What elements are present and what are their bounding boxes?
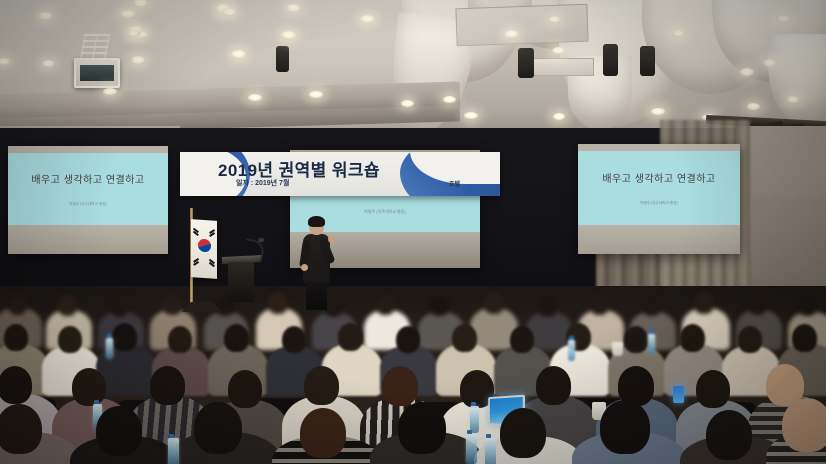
attendee-head [600,400,650,454]
attendee-head [396,326,420,353]
downlight-icon [553,113,565,120]
presenter [298,218,338,310]
ceiling-duct [455,4,588,47]
hanging-speaker-icon [640,46,655,76]
water-bottle [648,334,655,355]
downlight-icon [38,12,53,20]
attendee-head [484,292,504,314]
event-banner: 2019년 권역별 워크숍 일자 : 2019년 7월 호텔 [180,152,500,196]
downlight-icon [103,88,117,95]
downlight-icon [127,30,140,37]
south-korean-flag-icon [178,216,212,302]
slide-subtitle: 박형주 (아주대학교 총장) [69,202,106,207]
attendee-head [500,408,546,458]
attendee-head [194,402,242,454]
downlight-icon [651,108,665,115]
conference-hall-photo: 배우고 생각하고 연결하고 박형주 (아주대학교 총장) 배우고 생각하고 연결… [0,0,826,464]
slide-subtitle: 박형주 (아주대학교 총장) [364,209,406,215]
downlight-icon [309,91,323,98]
downlight-icon [787,96,799,103]
downlight-icon [222,8,237,16]
attendee-head [282,326,306,353]
attendee-head [430,296,449,316]
water-bottle [568,340,575,361]
screen-frame [578,144,740,151]
attendee-head [738,326,762,353]
attendee-head [538,296,557,317]
slide-subtitle: 박형주 (아주대학교 총장) [640,201,677,206]
attendee-head [228,370,262,408]
attendee-head [110,296,129,317]
downlight-icon [131,56,145,64]
right-projection-screen: 배우고 생각하고 연결하고 박형주 (아주대학교 총장) [578,144,740,254]
flag-cloth [191,219,217,279]
water-bottle [470,406,479,433]
attendee-head [798,296,817,316]
attendee-head [590,294,609,315]
attendee-head [398,402,446,454]
attendee-head [680,324,705,352]
hanging-speaker-icon [518,48,534,78]
attendee-head [58,295,77,316]
projector-body [80,65,114,81]
microphone-head [258,238,264,242]
bottle-cap [94,400,99,404]
attendee-head [452,324,477,352]
downlight-icon [763,59,777,67]
downlight-icon [504,30,519,38]
screen-frame [8,146,168,153]
downlight-icon [443,96,456,103]
attendee-head [510,326,534,353]
bottle-cap [471,402,476,406]
hanging-speaker-icon [603,44,618,76]
flag-stand [182,292,222,312]
left-projection-screen: 배우고 생각하고 연결하고 박형주 (아주대학교 총장) [8,146,168,254]
slide-title: 배우고 생각하고 연결하고 [602,170,715,185]
attendee-head [536,366,571,405]
water-bottle [466,434,477,464]
attendee-head [300,408,346,458]
banner-venue: 호텔 [449,179,460,188]
attendee-head [0,404,42,454]
smartphone [673,386,684,403]
hanging-speaker-icon [276,46,289,72]
banner-date: 일자 : 2019년 7월 [236,178,289,188]
screen-lower-band [578,225,740,254]
coffee-cup [612,342,623,356]
attendee-head [168,326,192,353]
attendee-head [224,324,249,352]
attendee-head [268,292,288,314]
water-bottle [106,338,113,359]
taeguk-symbol [198,239,211,253]
attendee-head [8,294,27,315]
attendee-head [4,324,28,351]
lectern-body [228,262,254,302]
projector-icon [74,58,120,88]
bottle-cap [486,434,491,438]
downlight-icon [120,10,136,18]
attendee-head [112,323,137,351]
downlight-icon [248,94,262,101]
presenter-hand-lower [301,264,308,271]
downlight-icon [42,60,55,67]
downlight-icon [231,50,246,58]
audience [0,286,826,464]
attendee-head [376,294,395,315]
downlight-icon [360,15,375,23]
slide-title: 배우고 생각하고 연결하고 [31,171,144,186]
bottle-cap [169,434,174,438]
attendee-head [304,366,339,405]
lectern [222,248,262,304]
bottle-cap [649,330,654,334]
attendee-head [58,326,82,353]
attendee-head [96,406,142,456]
downlight-icon [672,30,685,37]
presenter-hair [308,216,325,227]
slide-content: 배우고 생각하고 연결하고 박형주 (아주대학교 총장) [578,151,740,225]
downlight-icon [747,103,760,110]
downlight-icon [552,47,565,54]
downlight-icon [286,4,301,12]
screen-lower-band [8,225,168,254]
water-bottle [485,438,496,464]
presenter-legs [306,282,327,310]
attendee-head [792,324,817,352]
attendee-head [338,323,363,351]
downlight-icon [776,15,791,23]
attendee-head [696,370,730,408]
downlight-icon [548,16,561,23]
attendee-head [694,292,714,314]
attendee-head [0,366,32,404]
bottle-cap [107,334,112,338]
attendee-head [150,366,185,405]
attendee-head [782,398,826,452]
attendee-head [382,366,418,406]
downlight-icon [740,68,754,76]
projector-mount [80,34,111,60]
attendee-head [706,410,752,460]
downlight-icon [464,112,478,119]
bottle-cap [569,336,574,340]
attendee-head [72,368,106,406]
downlight-icon [401,100,414,107]
attendee-head [642,296,661,316]
attendee-head [624,326,648,353]
water-bottle [168,438,179,464]
downlight-icon [281,31,296,39]
bottle-cap [467,430,472,434]
presenter-hand [328,235,335,243]
attendee-head [748,294,767,315]
slide-content: 배우고 생각하고 연결하고 박형주 (아주대학교 총장) [8,153,168,225]
